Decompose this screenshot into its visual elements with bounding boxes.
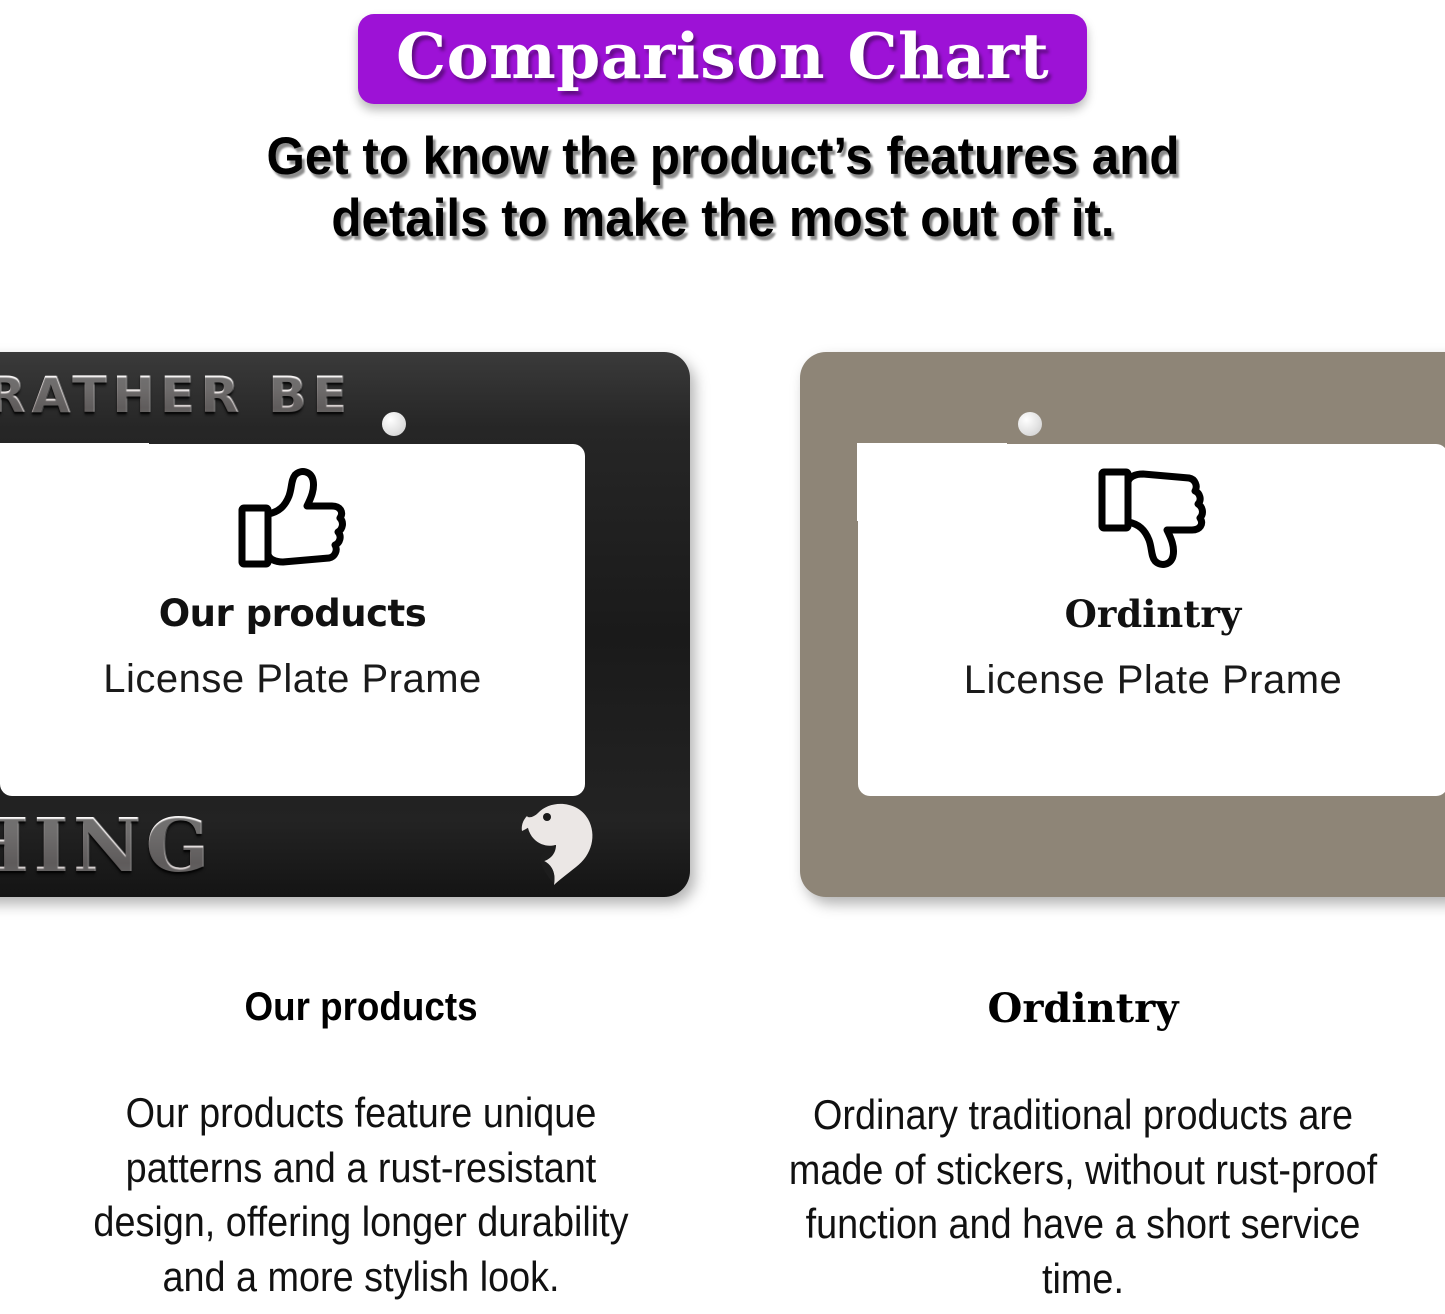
our-product-heading: Our products [53,985,669,1030]
ordinary-product-heading: Ordintry [748,985,1418,1032]
thumbs-up-icon [237,466,349,570]
page-title: Comparison Chart [396,24,1049,88]
plate-bottom-text: SHING [0,803,214,889]
our-product-sublabel: License Plate Prame [103,657,482,702]
comparison-chart-banner: Comparison Chart [358,14,1087,104]
subtitle-line-2: details to make the most out of it. [174,188,1271,249]
plate-top-text: D RATHER BE [0,366,353,424]
our-product-description-column: Our products Our products feature unique… [0,985,722,1306]
fish-icon [518,789,602,885]
mounting-hole-right [1018,412,1042,436]
ordinary-product-sublabel: License Plate Prame [964,658,1343,703]
our-product-content: Our products License Plate Prame [0,444,585,796]
our-product-label: Our products [159,592,427,635]
page-header: Comparison Chart Get to know the product… [0,0,1445,249]
our-product-panel: D RATHER BE SHING Our products License P… [0,352,690,897]
description-row: Our products Our products feature unique… [0,985,1445,1306]
plate-opening-right: Ordintry License Plate Prame [858,444,1445,796]
page-subtitle: Get to know the product’s features and d… [174,126,1271,249]
ordinary-product-panel: Ordintry License Plate Prame [800,352,1445,897]
mounting-hole-left [382,412,406,436]
product-comparison-row: D RATHER BE SHING Our products License P… [0,352,1445,922]
ordinary-product-content: Ordintry License Plate Prame [858,444,1445,796]
our-product-body: Our products feature unique patterns and… [60,1086,663,1304]
ordinary-product-label: Ordintry [1065,592,1242,636]
ordinary-product-body: Ordinary traditional products are made o… [782,1088,1385,1306]
thumbs-down-icon [1097,466,1209,570]
plate-opening-left: Our products License Plate Prame [0,444,585,796]
subtitle-line-1: Get to know the product’s features and [174,126,1271,187]
ordinary-product-description-column: Ordintry Ordinary traditional products a… [722,985,1444,1306]
